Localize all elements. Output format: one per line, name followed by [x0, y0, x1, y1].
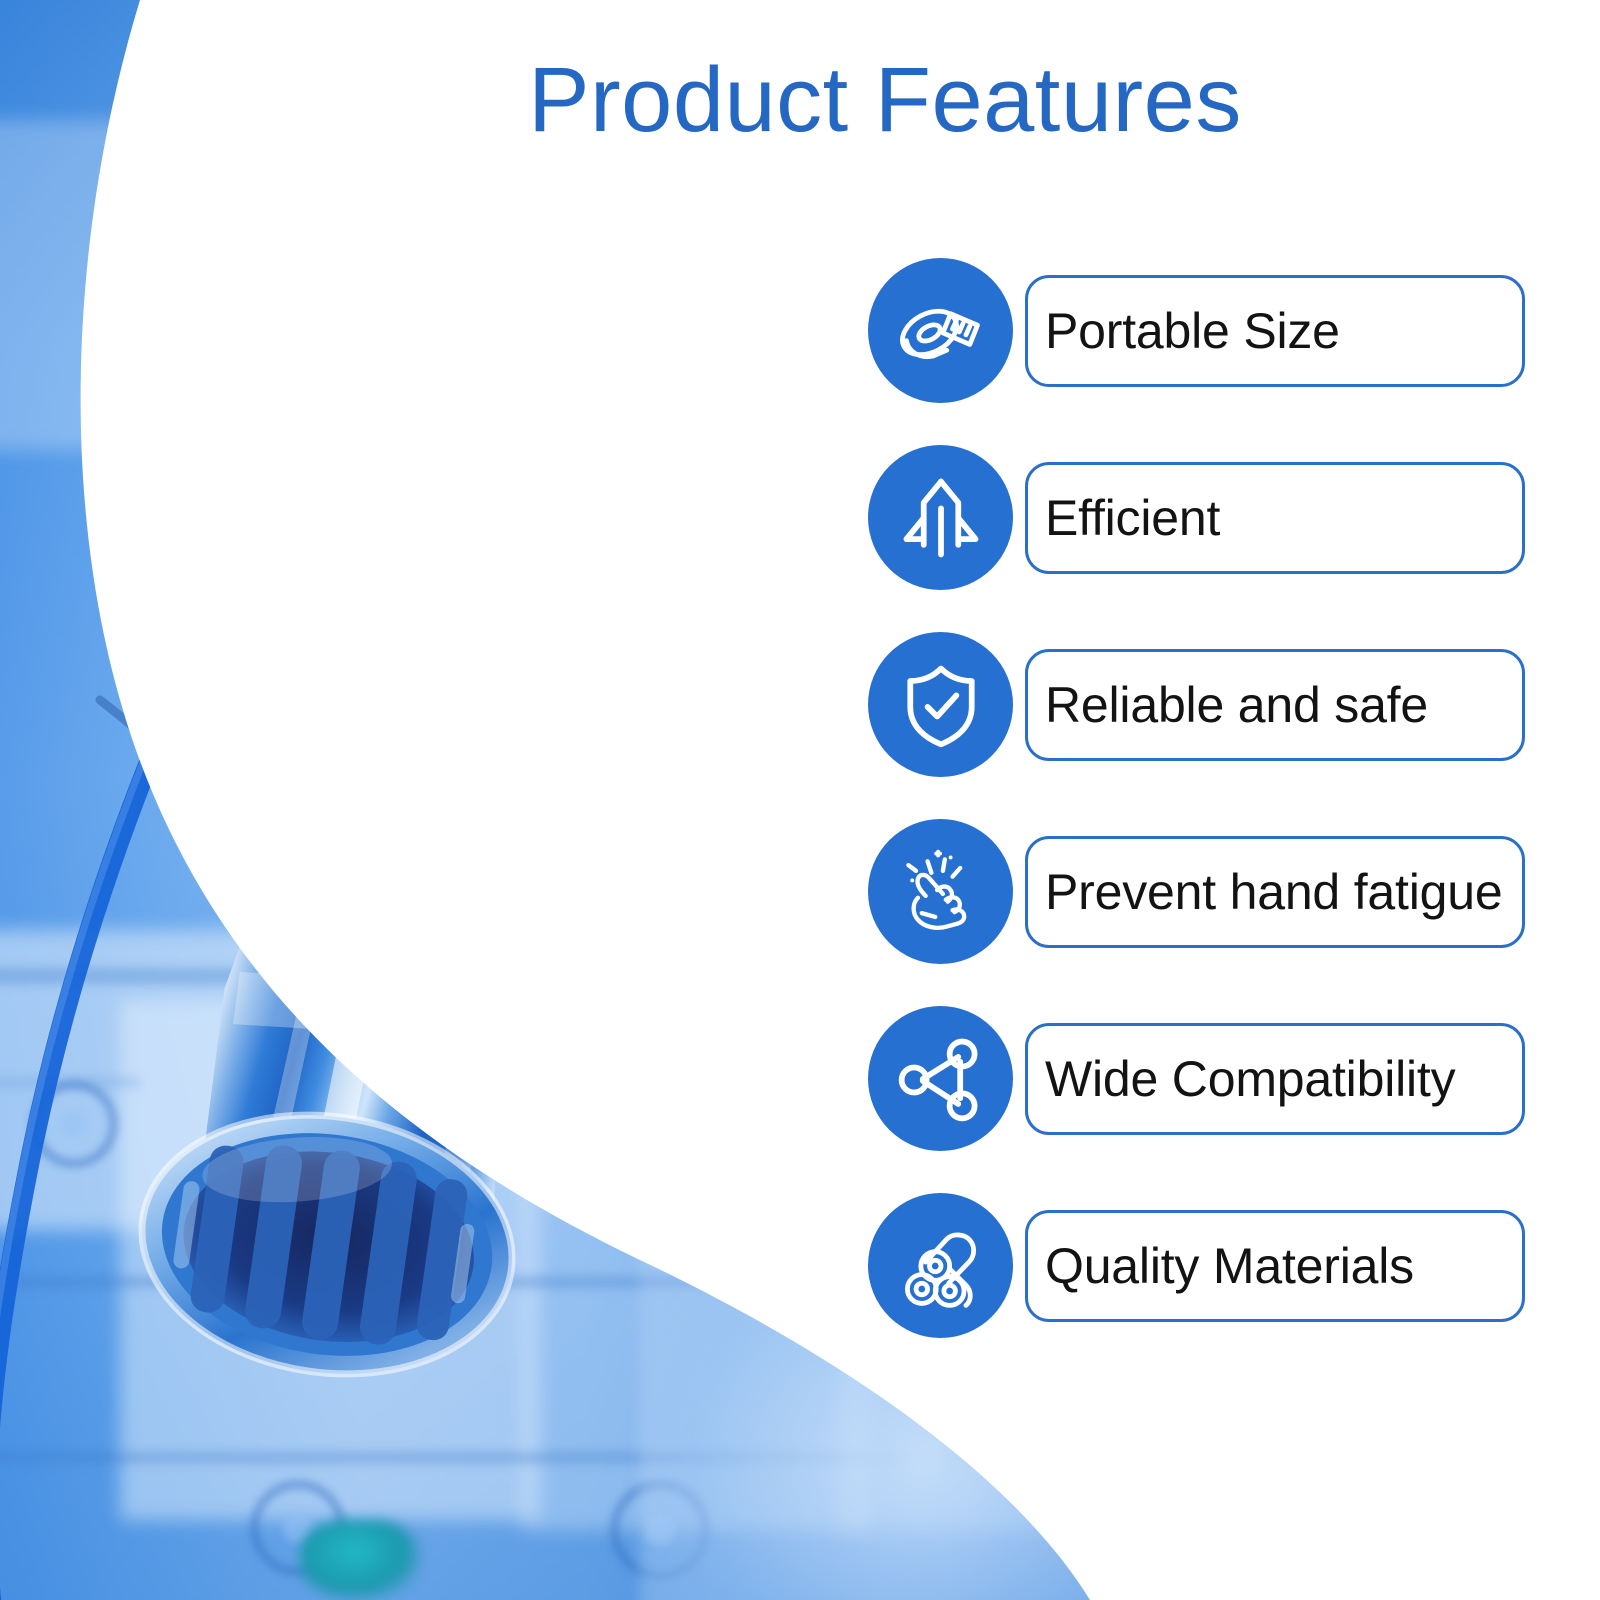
feature-row[interactable]: Portable Size: [860, 258, 1560, 403]
hand-snap-icon: [868, 819, 1013, 964]
feature-label: Reliable and safe: [1045, 649, 1515, 761]
feature-row[interactable]: Prevent hand fatigue: [860, 819, 1560, 964]
feature-label: Wide Compatibility: [1045, 1023, 1515, 1135]
feature-label: Quality Materials: [1045, 1210, 1515, 1322]
tape-measure-icon: [868, 258, 1013, 403]
feature-row[interactable]: Efficient: [860, 445, 1560, 590]
feature-list: Portable Size Efficient: [860, 258, 1560, 1380]
feature-row[interactable]: Quality Materials: [860, 1193, 1560, 1338]
rocket-icon: [868, 445, 1013, 590]
shield-check-icon: [868, 632, 1013, 777]
infographic-canvas: Product Features Portable Size Efficient: [0, 0, 1600, 1600]
feature-label: Efficient: [1045, 462, 1515, 574]
feature-row[interactable]: Wide Compatibility: [860, 1006, 1560, 1151]
material-rolls-icon: [868, 1193, 1013, 1338]
feature-row[interactable]: Reliable and safe: [860, 632, 1560, 777]
feature-label: Portable Size: [1045, 275, 1515, 387]
page-title: Product Features: [0, 54, 1600, 146]
share-nodes-icon: [868, 1006, 1013, 1151]
hex-shank: [391, 131, 619, 544]
feature-label: Prevent hand fatigue: [1045, 836, 1515, 948]
